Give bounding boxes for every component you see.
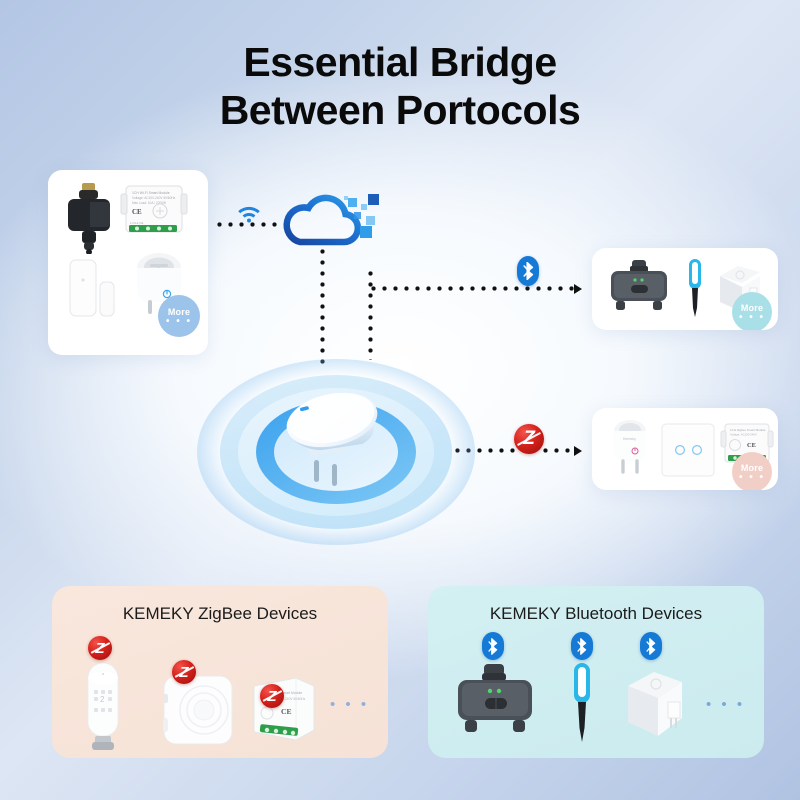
svg-text:2: 2 xyxy=(100,695,105,704)
connector-to-bluetooth-card xyxy=(368,286,574,291)
door-window-sensor xyxy=(68,258,122,320)
zigbee-badge-2: Z xyxy=(172,660,196,684)
bluetooth-panel-devices: • • • xyxy=(428,642,764,752)
zigbee-letter: Z xyxy=(179,664,188,681)
svg-text:1CH Wi-Fi Smart Module: 1CH Wi-Fi Smart Module xyxy=(132,191,170,195)
connector-cloud-to-hub xyxy=(320,246,325,364)
svg-text:1CH Zigbee Smart Module: 1CH Zigbee Smart Module xyxy=(730,428,766,432)
bluetooth-badge-2 xyxy=(571,632,593,660)
svg-text:Voltage: AC100-240V 50/60Hz: Voltage: AC100-240V 50/60Hz xyxy=(132,196,176,200)
page-title: Essential Bridge Between Portocols xyxy=(0,38,800,135)
svg-text:CE: CE xyxy=(281,707,292,716)
hub-device-body xyxy=(276,402,396,486)
bluetooth-devices-card[interactable]: More • • • xyxy=(592,248,778,330)
more-dots: • • • xyxy=(166,319,192,325)
central-gateway-hub[interactable] xyxy=(196,352,476,552)
soil-moisture-probe-panel xyxy=(570,662,594,744)
svg-text:Voltage: AC100-240V: Voltage: AC100-240V xyxy=(730,433,757,437)
bluetooth-cube-sensor-panel xyxy=(624,668,696,740)
zigbee-badge-1: Z xyxy=(88,636,112,660)
bluetooth-water-timer-panel xyxy=(456,664,534,740)
svg-text:L N L1 N1: L N L1 N1 xyxy=(130,221,144,225)
zigbee-letter: Z xyxy=(267,688,276,705)
title-line-1: Essential Bridge xyxy=(0,38,800,86)
arrow-to-bluetooth-card xyxy=(574,284,582,294)
title-line-2: Between Portocols xyxy=(0,86,800,134)
more-badge-zigbee[interactable]: More • • • xyxy=(732,452,772,490)
wifi-devices-card[interactable]: 1CH Wi-Fi Smart Module Voltage: AC100-24… xyxy=(48,170,208,355)
more-badge-bluetooth[interactable]: More • • • xyxy=(732,292,772,330)
wifi-icon xyxy=(236,206,262,224)
bluetooth-panel-ellipsis: • • • xyxy=(706,696,745,713)
bluetooth-water-timer xyxy=(608,260,670,316)
zigbee-letter: Z xyxy=(95,640,104,657)
zigbee-badge-3: Z xyxy=(260,684,284,708)
svg-text:CE: CE xyxy=(132,208,142,216)
zigbee-smart-plug: Kemeky xyxy=(606,418,654,480)
infographic-stage: Essential Bridge Between Portocols Z xyxy=(0,0,800,800)
wifi-switch-module: 1CH Wi-Fi Smart Module Voltage: AC100-24… xyxy=(120,184,188,240)
more-dots: • • • xyxy=(739,315,765,321)
radiator-thermostat-valve: 2 xyxy=(74,662,132,754)
connector-cloud-branch-vertical xyxy=(368,268,373,360)
zigbee-icon: Z xyxy=(514,424,544,454)
bluetooth-badge-3 xyxy=(640,632,662,660)
bluetooth-icon xyxy=(517,256,539,286)
zigbee-devices-card[interactable]: Kemeky 1CH Zigbee Smart Module Voltage: … xyxy=(592,408,778,490)
zigbee-panel-title: KEMEKY ZigBee Devices xyxy=(52,604,388,624)
wall-touch-switch xyxy=(660,422,716,478)
more-badge-wifi[interactable]: More • • • xyxy=(158,295,200,337)
zigbee-switch-module-panel: 1CH Zigbee Smart Module Voltage: AC100-2… xyxy=(248,672,320,746)
cloud-icon xyxy=(278,190,388,250)
more-dots: • • • xyxy=(739,475,765,481)
zigbee-motion-sensor xyxy=(162,674,234,746)
zigbee-letter: Z xyxy=(523,428,535,450)
soil-moisture-probe xyxy=(686,258,704,320)
arrow-to-zigbee-card xyxy=(574,446,582,456)
bluetooth-panel: KEMEKY Bluetooth Devices xyxy=(428,586,764,758)
svg-text:Kemeky: Kemeky xyxy=(623,437,636,441)
bluetooth-badge-1 xyxy=(482,632,504,660)
zigbee-panel-ellipsis: • • • xyxy=(330,696,369,713)
zigbee-panel-devices: 2 xyxy=(52,642,388,752)
black-water-timer xyxy=(64,182,116,254)
bluetooth-panel-title: KEMEKY Bluetooth Devices xyxy=(428,604,764,624)
svg-text:CE: CE xyxy=(747,442,756,449)
zigbee-panel: KEMEKY ZigBee Devices 2 xyxy=(52,586,388,758)
